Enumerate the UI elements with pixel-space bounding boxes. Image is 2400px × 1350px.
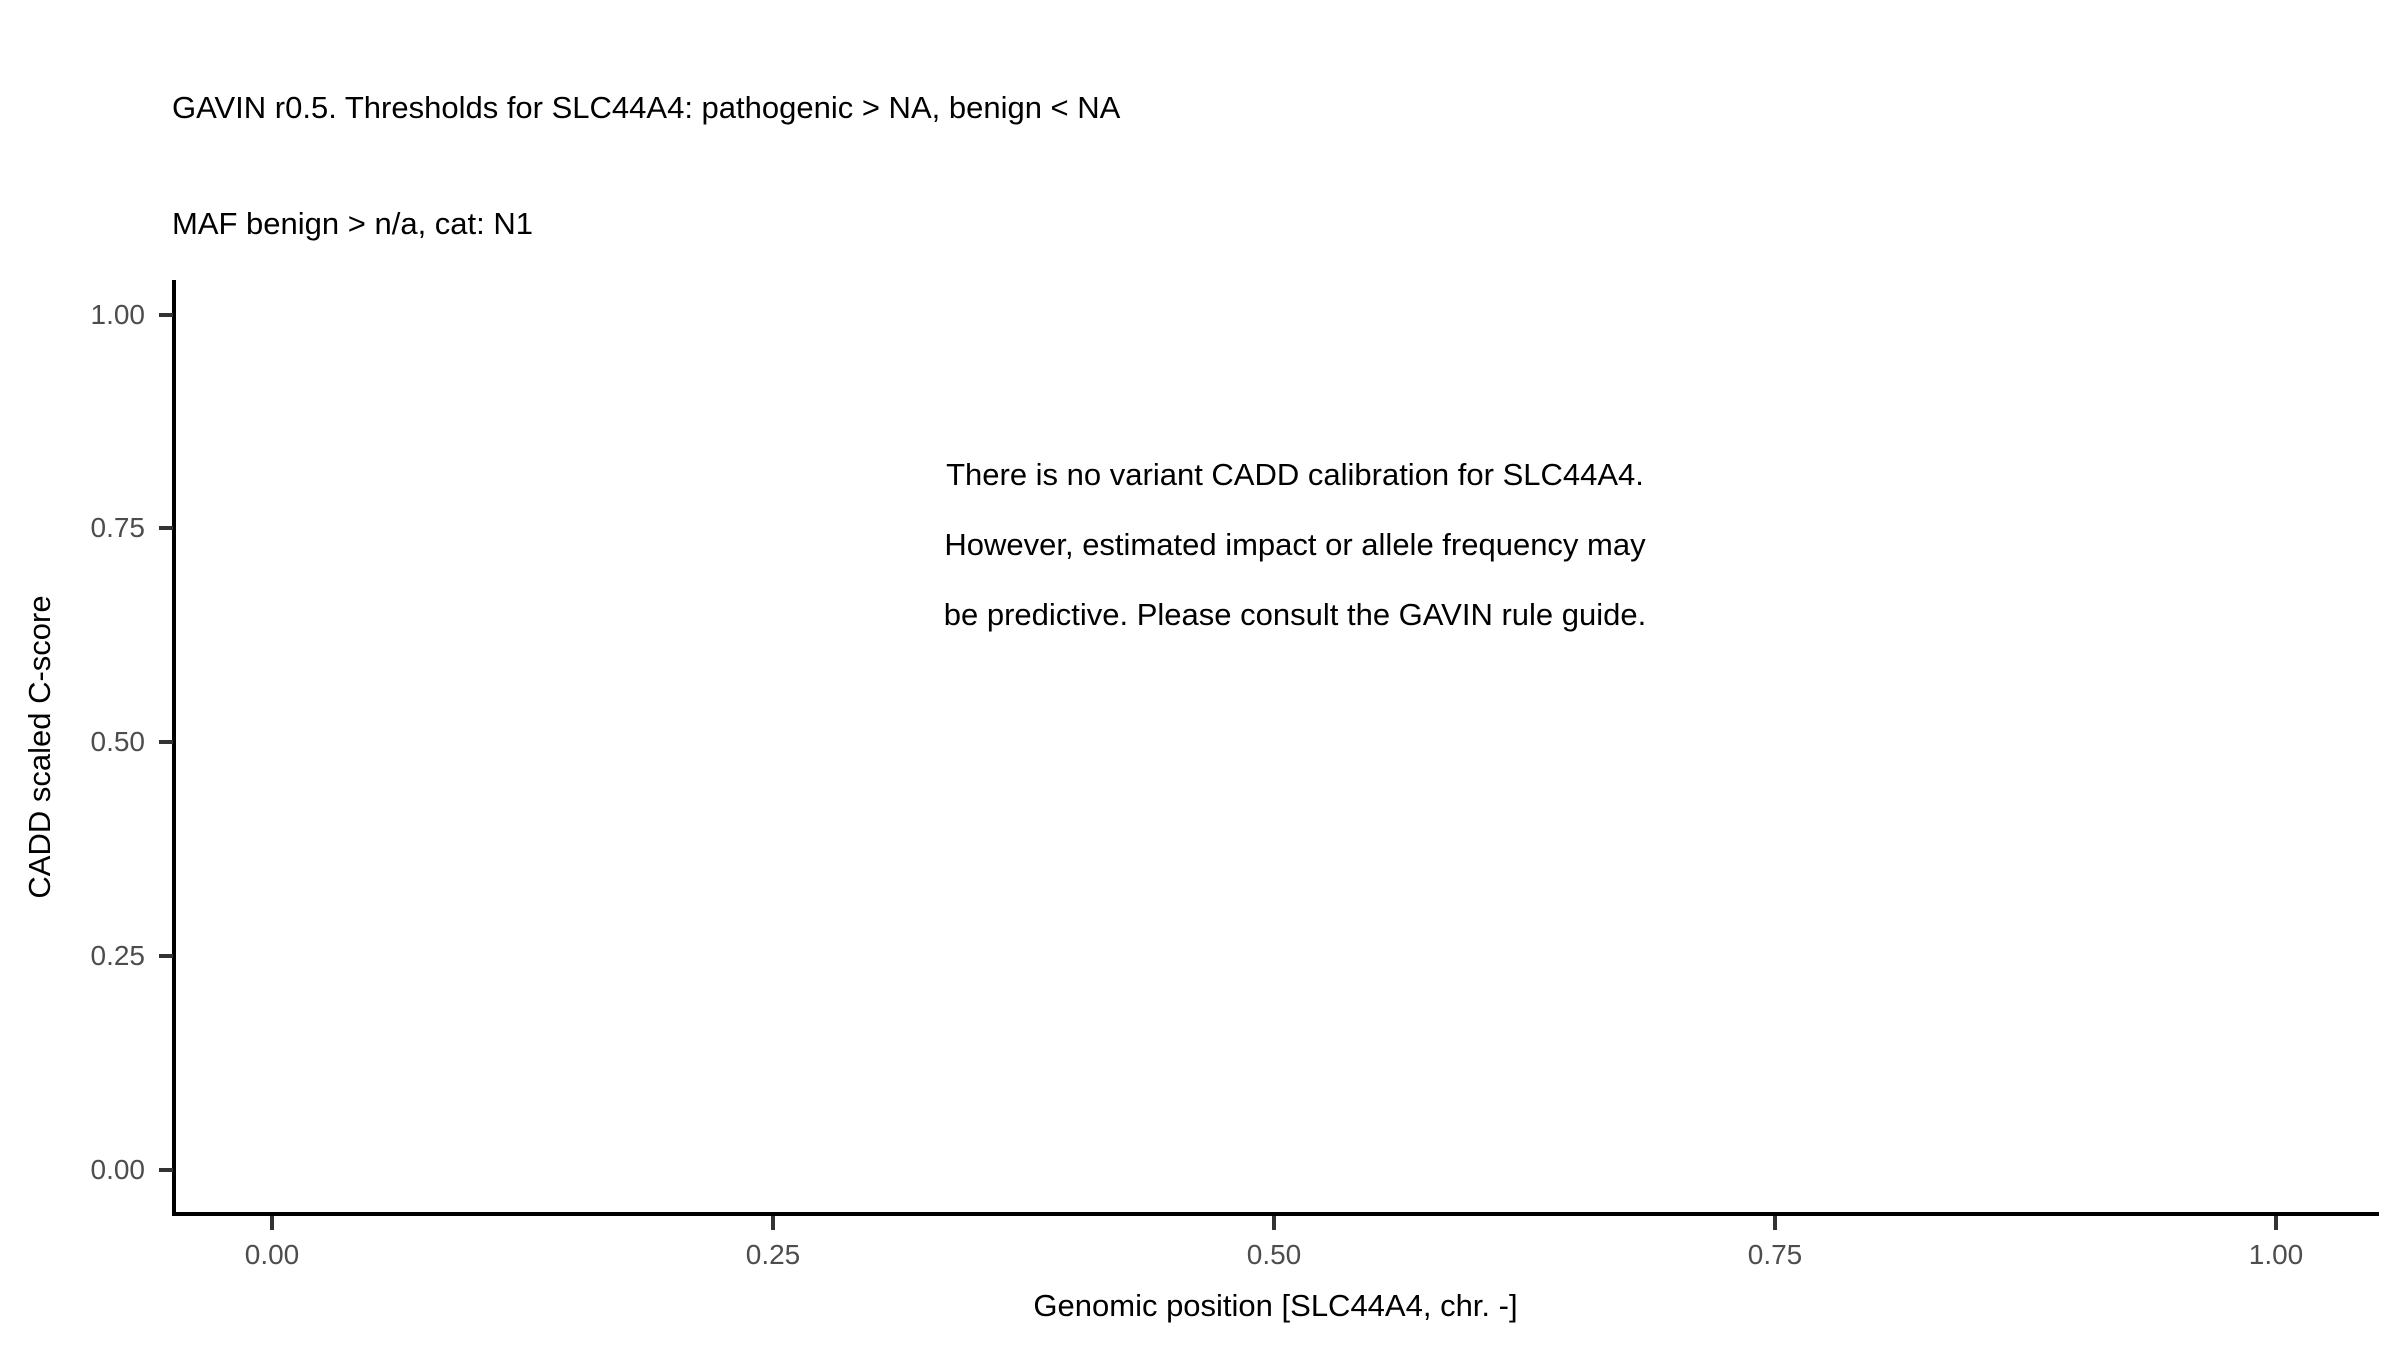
x-tick-mark-4 [1773,1216,1777,1230]
panel-annotation-line-3: be predictive. Please consult the GAVIN … [545,580,2045,650]
y-tick-mark-1 [159,313,173,317]
gavin-calibration-plot: GAVIN r0.5. Thresholds for SLC44A4: path… [0,0,2400,1350]
x-tick-label-2: 0.25 [693,1239,853,1271]
panel-annotation-line-1: There is no variant CADD calibration for… [545,440,2045,510]
y-tick-mark-2 [159,526,173,530]
plot-title-line-2: MAF benign > n/a, cat: N1 [172,205,2372,244]
x-tick-label-3: 0.50 [1194,1239,1354,1271]
x-tick-mark-2 [771,1216,775,1230]
x-tick-mark-1 [270,1216,274,1230]
x-tick-label-1: 0.00 [192,1239,352,1271]
x-tick-mark-3 [1272,1216,1276,1230]
plot-panel: There is no variant CADD calibration for… [173,280,2379,1214]
y-axis-title: CADD scaled C-score [18,280,62,1214]
y-axis-line [172,280,176,1216]
panel-annotation: There is no variant CADD calibration for… [545,440,2045,650]
x-axis-title: Genomic position [SLC44A4, chr. -] [172,1288,2379,1324]
plot-title-line-1: GAVIN r0.5. Thresholds for SLC44A4: path… [172,89,2372,128]
y-tick-mark-4 [159,954,173,958]
x-tick-label-4: 0.75 [1695,1239,1855,1271]
x-tick-mark-5 [2274,1216,2278,1230]
y-tick-mark-3 [159,740,173,744]
x-tick-label-5: 1.00 [2196,1239,2356,1271]
panel-annotation-line-2: However, estimated impact or allele freq… [545,510,2045,580]
y-tick-mark-5 [159,1168,173,1172]
